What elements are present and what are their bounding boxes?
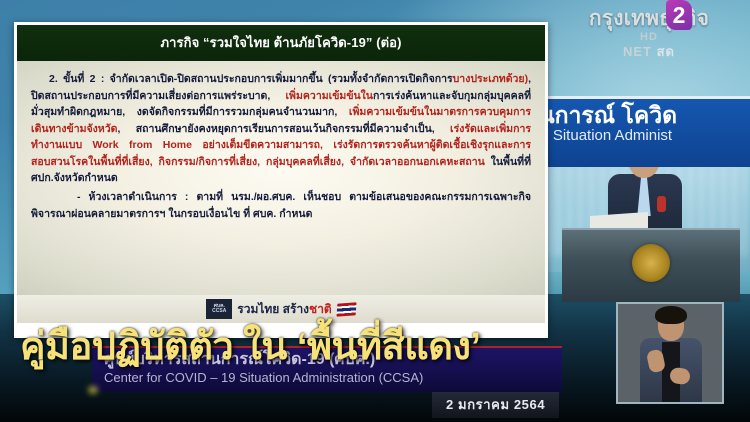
unity-slogan: รวมไทย สร้างชาติ bbox=[237, 300, 331, 319]
interpreter-hair bbox=[655, 306, 687, 324]
lower-third-ccsa-en: Center for COVID – 19 Situation Administ… bbox=[104, 370, 554, 387]
channel-hd-label: HD bbox=[562, 32, 736, 43]
slide-text-run-highlight: ในพื้นที่ที่เสี่ยง, กิจกรรม/กิจการที่เสี… bbox=[88, 156, 485, 168]
broadcast-screenshot: 2 กรุงเทพธุรกิจ HD NET สด ถานการณ์ โควิด… bbox=[0, 0, 750, 422]
channel-net-text: NET bbox=[623, 44, 652, 59]
channel-number-badge: 2 bbox=[666, 0, 692, 30]
thai-flag-icon bbox=[336, 302, 356, 316]
broadcast-date-chip: 2 มกราคม 2564 bbox=[432, 392, 559, 418]
lens-glow bbox=[88, 386, 98, 394]
live-badge: สด bbox=[657, 44, 675, 59]
ccsa-logo-badge: ศบค. CCSA bbox=[206, 299, 232, 319]
slide-text-run: , สถานศึกษายังคงหยุดการเรียนการสอนเว้นกิ… bbox=[117, 123, 450, 135]
podium bbox=[562, 228, 740, 302]
slide-text-run-highlight: บางประเภทด้วย) bbox=[453, 73, 528, 85]
presentation-slide: ภารกิจ “รวมใจไทย ต้านภัยโควิด-19” (ต่อ) … bbox=[14, 22, 548, 338]
sign-language-interpreter-inset bbox=[616, 302, 724, 404]
slide-title: ภารกิจ “รวมใจไทย ต้านภัยโควิด-19” (ต่อ) bbox=[17, 25, 545, 61]
slide-paragraph-2: - ห้วงเวลาดำเนินการ : ตามที่ นรม./ผอ.ศบค… bbox=[31, 189, 531, 222]
news-headline: คู่มือปฏิบัติตัว ใน ‘พื้นที่สีแดง’ bbox=[20, 328, 510, 366]
channel-net-label: NET สด bbox=[562, 45, 736, 58]
slide-text-run: - ห้วงเวลาดำเนินการ : ตามที่ นรม./ผอ.ศบค… bbox=[31, 191, 531, 220]
slide-paragraph-list: 2. ขั้นที่ 2 : จำกัดเวลาเปิด-ปิดสถานประก… bbox=[31, 71, 531, 222]
presenter-ribbon bbox=[657, 196, 666, 212]
unity-slogan-dark: รวมไทย สร้าง bbox=[237, 302, 309, 316]
slide-text-run: 2. ขั้นที่ 2 : จำกัดเวลาเปิด-ปิดสถานประก… bbox=[49, 73, 453, 85]
unity-slogan-red: ชาติ bbox=[309, 302, 332, 316]
channel-name: กรุงเทพธุรกิจ bbox=[562, 8, 736, 29]
slide-text-run-highlight: เพิ่มความเข้มข้นใน bbox=[285, 90, 373, 102]
garuda-emblem-icon bbox=[632, 244, 670, 282]
slide-paragraph-1: 2. ขั้นที่ 2 : จำกัดเวลาเปิด-ปิดสถานประก… bbox=[31, 71, 531, 187]
unity-campaign-strip: ศบค. CCSA รวมไทย สร้างชาติ bbox=[17, 295, 545, 323]
ccsa-badge-line2: CCSA bbox=[212, 309, 226, 315]
slide-body: 2. ขั้นที่ 2 : จำกัดเวลาเปิด-ปิดสถานประก… bbox=[17, 61, 545, 323]
channel-logo: 2 กรุงเทพธุรกิจ HD NET สด bbox=[562, 8, 736, 58]
